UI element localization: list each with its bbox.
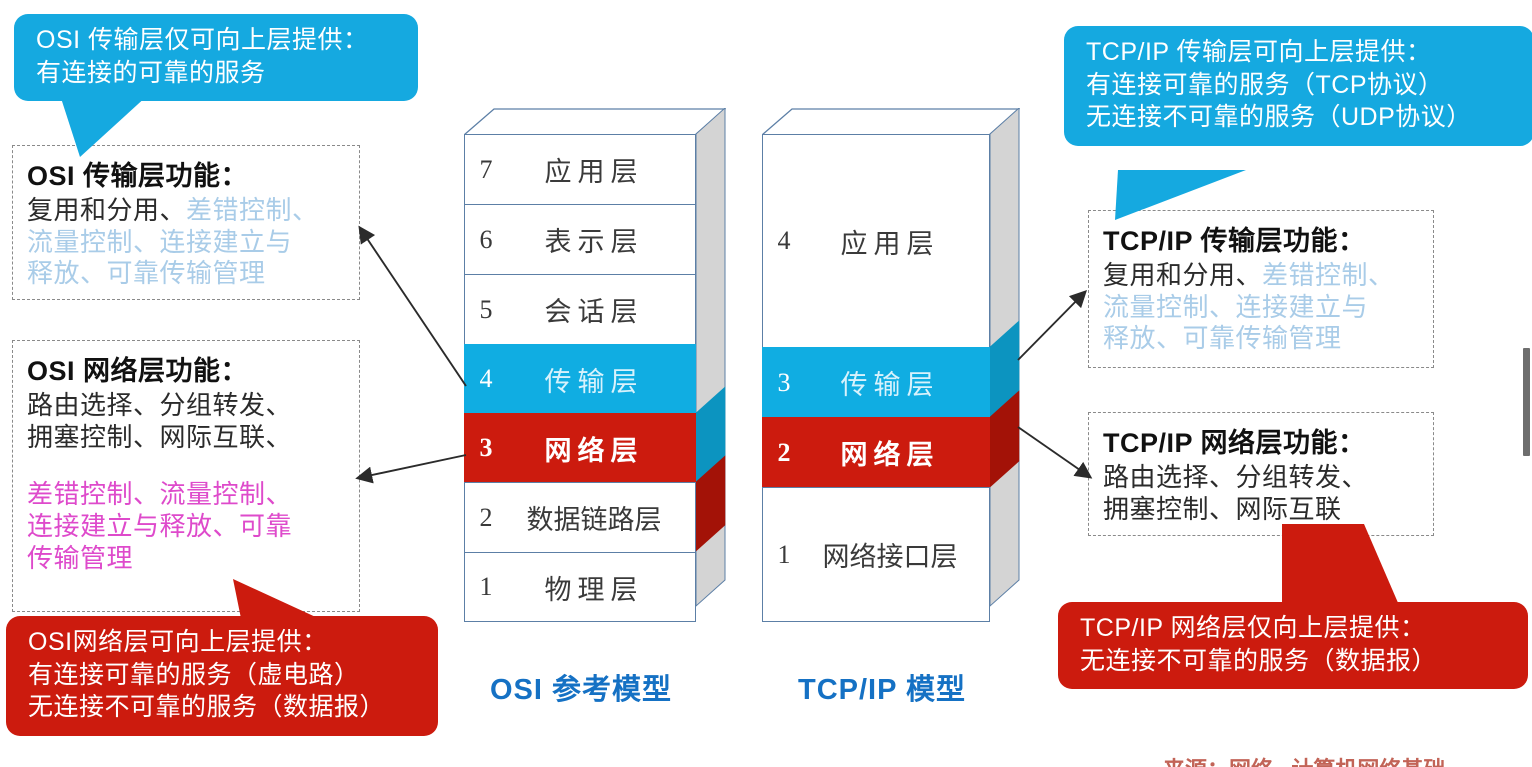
layer-number: 1 xyxy=(763,540,805,570)
box-line: 复用和分用、差错控制、 xyxy=(27,195,349,227)
box-line: 差错控制、流量控制、 xyxy=(27,479,349,511)
callout-line: 无连接不可靠的服务（数据报） xyxy=(1080,645,1512,678)
osi-stack-rows: 7应用层6表示层5会话层4传输层3网络层2数据链路层1物理层 xyxy=(464,134,696,622)
tcpip-stack-top-lid xyxy=(762,108,1020,136)
tcpip-transport-callout-tail xyxy=(1100,168,1280,230)
callout-line: OSI 传输层仅可向上层提供： xyxy=(36,24,402,57)
slide-canvas: OSI 传输层仅可向上层提供： 有连接的可靠的服务 OSI 传输层功能： 复用和… xyxy=(0,0,1532,767)
tcpip-layer-3: 3传输层 xyxy=(762,347,990,417)
layer-name: 表示层 xyxy=(507,220,695,259)
box-line: 流量控制、连接建立与 xyxy=(27,227,349,259)
osi-layer-5: 5会话层 xyxy=(464,274,696,344)
layer-number: 5 xyxy=(465,295,507,325)
arrow-tcpip-transport xyxy=(1018,292,1085,360)
box-line: 传输管理 xyxy=(27,543,349,575)
vertical-scrollbar-thumb[interactable] xyxy=(1523,348,1530,456)
layer-number: 6 xyxy=(465,225,507,255)
osi-transport-function-box: OSI 传输层功能： 复用和分用、差错控制、 流量控制、连接建立与 释放、可靠传… xyxy=(12,145,360,300)
box-title: TCP/IP 网络层功能： xyxy=(1103,421,1423,460)
osi-layer-1: 1物理层 xyxy=(464,552,696,622)
layer-name: 网络接口层 xyxy=(805,535,989,574)
box-line: 复用和分用、差错控制、 xyxy=(1103,260,1423,292)
osi-layer-6: 6表示层 xyxy=(464,204,696,274)
box-line: 释放、可靠传输管理 xyxy=(27,258,349,290)
layer-name: 传输层 xyxy=(805,363,989,402)
osi-layer-4: 4传输层 xyxy=(464,344,696,413)
box-line: 连接建立与释放、可靠 xyxy=(27,511,349,543)
layer-number: 3 xyxy=(465,433,507,463)
arrow-tcpip-network xyxy=(1018,427,1090,477)
osi-model-label: OSI 参考模型 xyxy=(490,666,672,708)
osi-layer-7: 7应用层 xyxy=(464,134,696,204)
callout-line: 无连接不可靠的服务（数据报） xyxy=(28,691,422,724)
layer-number: 7 xyxy=(465,155,507,185)
osi-layer-3: 3网络层 xyxy=(464,413,696,482)
box-line: 路由选择、分组转发、 xyxy=(27,390,349,422)
layer-name: 物理层 xyxy=(507,568,695,607)
callout-line: OSI网络层可向上层提供： xyxy=(28,626,422,659)
footer-faint-text: 来源：网络 · 计算机网络基础 xyxy=(1163,752,1445,767)
tcpip-transport-callout: TCP/IP 传输层可向上层提供： 有连接可靠的服务（TCP协议） 无连接不可靠… xyxy=(1064,26,1532,146)
layer-number: 3 xyxy=(763,368,805,398)
tcpip-model-label: TCP/IP 模型 xyxy=(798,666,966,708)
layer-number: 2 xyxy=(465,503,507,533)
layer-number: 1 xyxy=(465,572,507,602)
layer-name: 网络层 xyxy=(507,429,695,468)
callout-line: TCP/IP 网络层仅向上层提供： xyxy=(1080,612,1512,645)
layer-name: 传输层 xyxy=(507,360,695,399)
osi-stack-side-panel xyxy=(696,108,726,636)
tcpip-stack-rows: 4应用层3传输层2网络层1网络接口层 xyxy=(762,134,990,622)
box-line: 流量控制、连接建立与 xyxy=(1103,292,1423,324)
box-title: OSI 网络层功能： xyxy=(27,349,349,388)
osi-transport-callout-tail xyxy=(52,95,192,165)
tcpip-layer-2: 2网络层 xyxy=(762,417,990,487)
layer-name: 应用层 xyxy=(805,222,989,261)
callout-line: 有连接的可靠的服务 xyxy=(36,57,402,90)
tcpip-network-callout: TCP/IP 网络层仅向上层提供： 无连接不可靠的服务（数据报） xyxy=(1058,602,1528,689)
tcpip-model-stack: 4应用层3传输层2网络层1网络接口层 xyxy=(762,108,1022,636)
osi-stack-top-lid xyxy=(464,108,726,136)
osi-layer-2: 2数据链路层 xyxy=(464,482,696,552)
box-line: 路由选择、分组转发、 xyxy=(1103,462,1423,494)
osi-network-callout: OSI网络层可向上层提供： 有连接可靠的服务（虚电路） 无连接不可靠的服务（数据… xyxy=(6,616,438,736)
tcpip-layer-1: 1网络接口层 xyxy=(762,487,990,622)
tcpip-stack-side-panel xyxy=(990,108,1020,636)
osi-model-stack: 7应用层6表示层5会话层4传输层3网络层2数据链路层1物理层 xyxy=(464,108,726,636)
osi-network-function-box: OSI 网络层功能： 路由选择、分组转发、 拥塞控制、网际互联、 差错控制、流量… xyxy=(12,340,360,612)
arrow-osi-network xyxy=(358,455,466,478)
box-line: 释放、可靠传输管理 xyxy=(1103,323,1423,355)
box-line: 拥塞控制、网际互联、 xyxy=(27,422,349,454)
osi-transport-callout: OSI 传输层仅可向上层提供： 有连接的可靠的服务 xyxy=(14,14,418,101)
tcpip-network-function-box: TCP/IP 网络层功能： 路由选择、分组转发、 拥塞控制、网际互联 xyxy=(1088,412,1434,536)
layer-name: 网络层 xyxy=(805,433,989,472)
tcpip-transport-function-box: TCP/IP 传输层功能： 复用和分用、差错控制、 流量控制、连接建立与 释放、… xyxy=(1088,210,1434,368)
tcpip-layer-4: 4应用层 xyxy=(762,134,990,347)
arrow-osi-transport xyxy=(360,228,466,386)
layer-name: 数据链路层 xyxy=(507,498,695,537)
layer-name: 会话层 xyxy=(507,290,695,329)
spacer xyxy=(27,453,349,479)
callout-line: TCP/IP 传输层可向上层提供： xyxy=(1086,36,1518,69)
layer-number: 2 xyxy=(763,438,805,468)
layer-number: 4 xyxy=(763,226,805,256)
layer-number: 4 xyxy=(465,364,507,394)
layer-name: 应用层 xyxy=(507,150,695,189)
callout-line: 有连接可靠的服务（虚电路） xyxy=(28,659,422,692)
callout-line: 无连接不可靠的服务（UDP协议） xyxy=(1086,101,1518,134)
callout-line: 有连接可靠的服务（TCP协议） xyxy=(1086,69,1518,102)
